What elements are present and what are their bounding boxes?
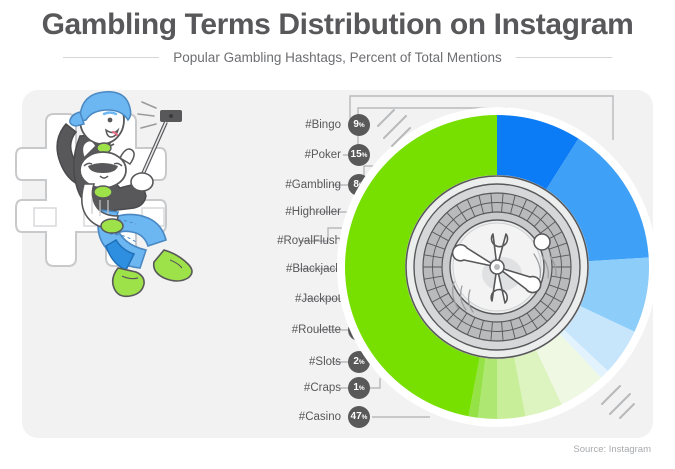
source-note: Source: Instagram — [573, 444, 651, 455]
subtitle-row: Popular Gambling Hashtags, Percent of To… — [0, 50, 675, 65]
page-title: Gambling Terms Distribution on Instagram — [0, 8, 675, 42]
page-subtitle: Popular Gambling Hashtags, Percent of To… — [173, 50, 501, 65]
infographic-root: Gambling Terms Distribution on Instagram… — [0, 0, 675, 469]
legend-label-highroller: #Highroller — [285, 206, 341, 218]
subtitle-rule-right — [516, 57, 612, 58]
legend-label-royalflush: #RoyalFlush — [277, 235, 341, 247]
legend-label-blackjack: #Blackjack — [286, 263, 341, 275]
donut-chart — [334, 104, 660, 430]
legend-label-gambling: #Gambling — [285, 179, 341, 191]
motion-marks — [334, 104, 660, 430]
subtitle-rule-left — [63, 57, 159, 58]
illustration-selfie-with-cat — [14, 80, 214, 330]
